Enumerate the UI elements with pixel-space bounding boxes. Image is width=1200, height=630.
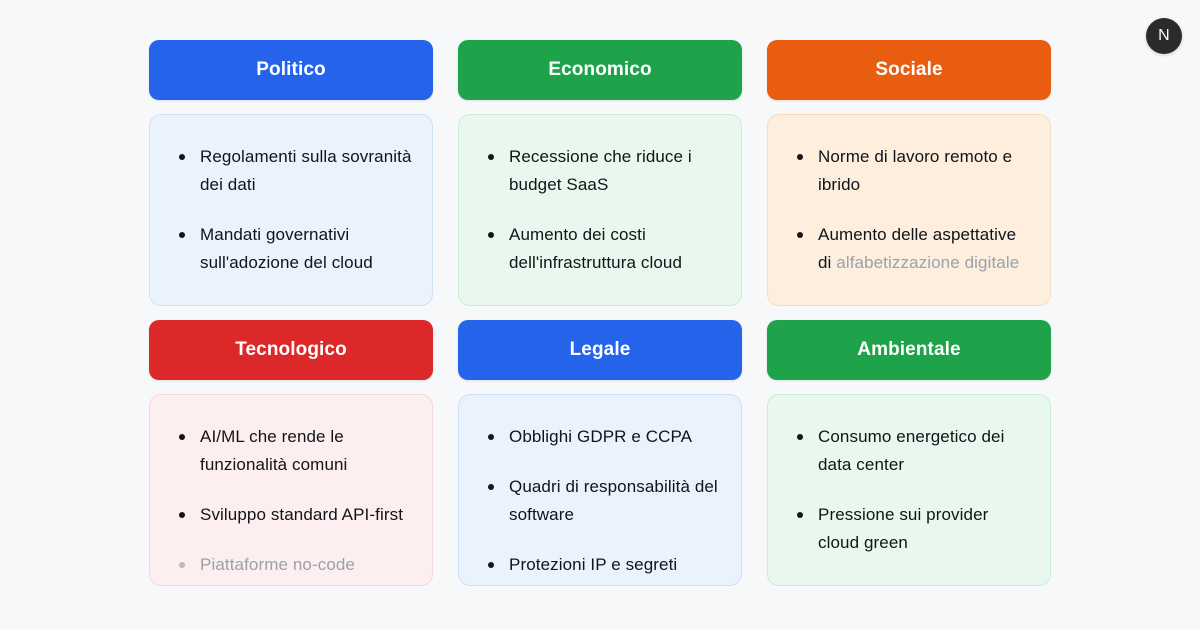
category-title: Politico <box>256 59 325 81</box>
factor-list: Recessione che riduce i budget SaaSAumen… <box>479 143 721 306</box>
factor-text: Consumo energetico dei data center <box>818 427 1004 474</box>
factor-text: Aumento dei costi dell'infrastruttura cl… <box>509 225 682 272</box>
list-item: Aumento delle aspettative di alfabetizza… <box>788 221 1030 277</box>
factor-text: Mandati governativi sull'adozione del cl… <box>200 225 373 272</box>
factor-text-overflow: commerciali <box>509 583 601 586</box>
category-title: Ambientale <box>857 339 960 361</box>
category-title: Legale <box>570 339 631 361</box>
factor-list: Norme di lavoro remoto e ibridoAumento d… <box>788 143 1030 277</box>
list-item: Regolamenti sulla sovranità dei dati <box>170 143 412 199</box>
category-header-ambientale[interactable]: Ambientale <box>767 320 1051 380</box>
category-body-politico: Regolamenti sulla sovranità dei datiMand… <box>149 114 433 306</box>
list-item: Recessione che riduce i budget SaaS <box>479 143 721 199</box>
factor-list: Consumo energetico dei data centerPressi… <box>788 423 1030 586</box>
factor-text: Sviluppo standard API-first <box>200 505 403 524</box>
factor-text: Quadri di responsabilità del software <box>509 477 718 524</box>
factor-text: Leggi sulla conformità <box>200 303 368 306</box>
avatar-initial: N <box>1158 27 1170 45</box>
category-body-economico: Recessione che riduce i budget SaaSAumen… <box>458 114 742 306</box>
list-item: AI/ML che rende le funzionalità comuni <box>170 423 412 479</box>
factor-list: AI/ML che rende le funzionalità comuniSv… <box>170 423 412 579</box>
list-item: Consumo energetico dei data center <box>788 423 1030 479</box>
category-title: Sociale <box>875 59 942 81</box>
list-item: Protezioni IP e segreti commerciali <box>479 551 721 586</box>
category-body-legale: Obblighi GDPR e CCPAQuadri di responsabi… <box>458 394 742 586</box>
list-item: Requisiti di reporting ESG <box>788 579 1030 586</box>
category-body-ambientale: Consumo energetico dei data centerPressi… <box>767 394 1051 586</box>
category-cell-economico: EconomicoRecessione che riduce i budget … <box>458 40 742 306</box>
factor-text: Protezioni IP e segreti <box>509 555 677 574</box>
category-title: Tecnologico <box>235 339 347 361</box>
category-cell-sociale: SocialeNorme di lavoro remoto e ibridoAu… <box>767 40 1051 306</box>
list-item: Pressione sui provider cloud green <box>788 501 1030 557</box>
factor-text-overflow: alfabetizzazione digitale <box>836 253 1019 272</box>
list-item: Piattaforme no-code <box>170 551 412 579</box>
list-item: Norme di lavoro remoto e ibrido <box>788 143 1030 199</box>
factor-text: AI/ML che rende le funzionalità comuni <box>200 427 347 474</box>
category-header-tecnologico[interactable]: Tecnologico <box>149 320 433 380</box>
category-header-legale[interactable]: Legale <box>458 320 742 380</box>
factor-text: Obblighi GDPR e CCPA <box>509 427 692 446</box>
factor-list: Regolamenti sulla sovranità dei datiMand… <box>170 143 412 306</box>
factor-text: Piattaforme no-code <box>200 555 355 574</box>
pestle-grid: PoliticoRegolamenti sulla sovranità dei … <box>149 40 1051 586</box>
list-item: Aumento dei costi dell'infrastruttura cl… <box>479 221 721 277</box>
list-item: Sviluppo standard API-first <box>170 501 412 529</box>
list-item: Quadri di responsabilità del software <box>479 473 721 529</box>
factor-text: Norme di lavoro remoto e ibrido <box>818 147 1012 194</box>
factor-list: Obblighi GDPR e CCPAQuadri di responsabi… <box>479 423 721 586</box>
category-cell-legale: LegaleObblighi GDPR e CCPAQuadri di resp… <box>458 320 742 586</box>
list-item: Obblighi GDPR e CCPA <box>479 423 721 451</box>
category-cell-tecnologico: TecnologicoAI/ML che rende le funzionali… <box>149 320 433 586</box>
factor-text: Crescita della spesa per <box>509 303 694 306</box>
factor-text: Regolamenti sulla sovranità dei dati <box>200 147 412 194</box>
category-cell-politico: PoliticoRegolamenti sulla sovranità dei … <box>149 40 433 306</box>
category-header-politico[interactable]: Politico <box>149 40 433 100</box>
user-avatar[interactable]: N <box>1146 18 1182 54</box>
list-item: Crescita della spesa per <box>479 299 721 306</box>
category-title: Economico <box>548 59 651 81</box>
list-item: Mandati governativi sull'adozione del cl… <box>170 221 412 277</box>
category-header-economico[interactable]: Economico <box>458 40 742 100</box>
factor-text: Pressione sui provider cloud green <box>818 505 988 552</box>
category-cell-ambientale: AmbientaleConsumo energetico dei data ce… <box>767 320 1051 586</box>
factor-text: Requisiti di reporting ESG <box>818 583 1016 586</box>
category-header-sociale[interactable]: Sociale <box>767 40 1051 100</box>
category-body-tecnologico: AI/ML che rende le funzionalità comuniSv… <box>149 394 433 586</box>
list-item: Leggi sulla conformità <box>170 299 412 306</box>
category-body-sociale: Norme di lavoro remoto e ibridoAumento d… <box>767 114 1051 306</box>
factor-text: Recessione che riduce i budget SaaS <box>509 147 692 194</box>
